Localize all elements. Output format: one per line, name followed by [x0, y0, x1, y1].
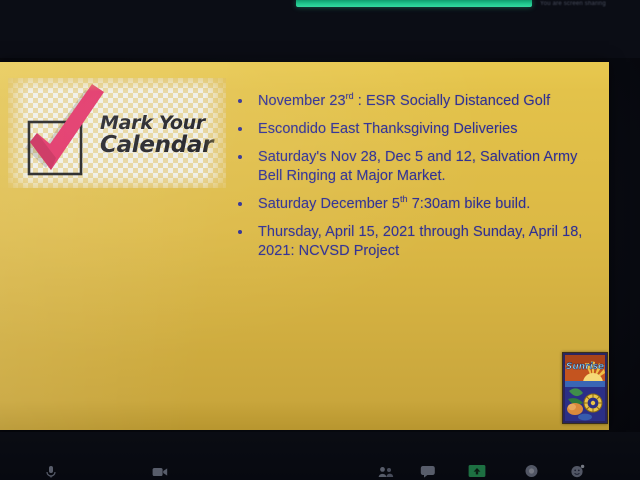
participants-icon[interactable]	[378, 466, 394, 478]
bullet-dot-icon	[238, 127, 242, 131]
chat-icon[interactable]	[420, 465, 436, 478]
bullet-esr-golf: November 23rd : ESR Socially Distanced G…	[232, 92, 600, 111]
logo-line-2: Calendar	[100, 134, 224, 157]
reactions-icon[interactable]	[570, 464, 585, 478]
bullet-bell-ringing: Saturday's Nov 28, Dec 5 and 12, Salvati…	[232, 148, 600, 186]
bullet-text: November 23rd : ESR Socially Distanced G…	[258, 93, 550, 109]
rotary-sunrise-logo-icon: Sunrise	[563, 353, 607, 423]
rotary-sunrise-badge: Sunrise	[562, 352, 608, 424]
bullet-text: Saturday's Nov 28, Dec 5 and 12, Salvati…	[258, 149, 577, 184]
logo-wordmark: Mark Your Calendar	[100, 114, 224, 158]
bullet-dot-icon	[238, 230, 242, 234]
microphone-icon[interactable]	[44, 464, 58, 478]
bullet-dot-icon	[238, 155, 242, 159]
screen-share-status-label: You are screen sharing	[540, 0, 614, 8]
meeting-window-chrome: You are screen sharing	[0, 0, 640, 58]
screen: You are screen sharing Mark Your Calenda…	[0, 0, 640, 480]
video-camera-icon[interactable]	[152, 466, 168, 478]
mark-your-calendar-logo: Mark Your Calendar	[8, 78, 226, 188]
bullet-text: Thursday, April 15, 2021 through Sunday,…	[258, 224, 582, 259]
bullet-text: Escondido East Thanksgiving Deliveries	[258, 121, 518, 137]
bullet-thanksgiving-deliveries: Escondido East Thanksgiving Deliveries	[232, 120, 600, 139]
screen-share-indicator-bar	[296, 0, 532, 7]
presentation-slide: Mark Your Calendar November 23rd : ESR S…	[0, 62, 609, 430]
announcement-bullet-list: November 23rd : ESR Socially Distanced G…	[232, 92, 600, 270]
ordinal-suffix: rd	[346, 91, 354, 101]
bullet-bike-build: Saturday December 5th 7:30am bike build.	[232, 195, 600, 214]
record-icon[interactable]	[524, 464, 539, 478]
meeting-toolbar[interactable]	[0, 432, 640, 480]
logo-line-1: Mark Your	[100, 114, 224, 133]
badge-title: Sunrise	[566, 362, 604, 372]
bullet-dot-icon	[238, 202, 242, 206]
ordinal-suffix: th	[400, 194, 408, 204]
bullet-text: Saturday December 5th 7:30am bike build.	[258, 196, 530, 212]
bullet-ncvsd-project: Thursday, April 15, 2021 through Sunday,…	[232, 223, 600, 261]
share-screen-icon[interactable]	[468, 464, 486, 478]
bullet-dot-icon	[238, 99, 242, 103]
